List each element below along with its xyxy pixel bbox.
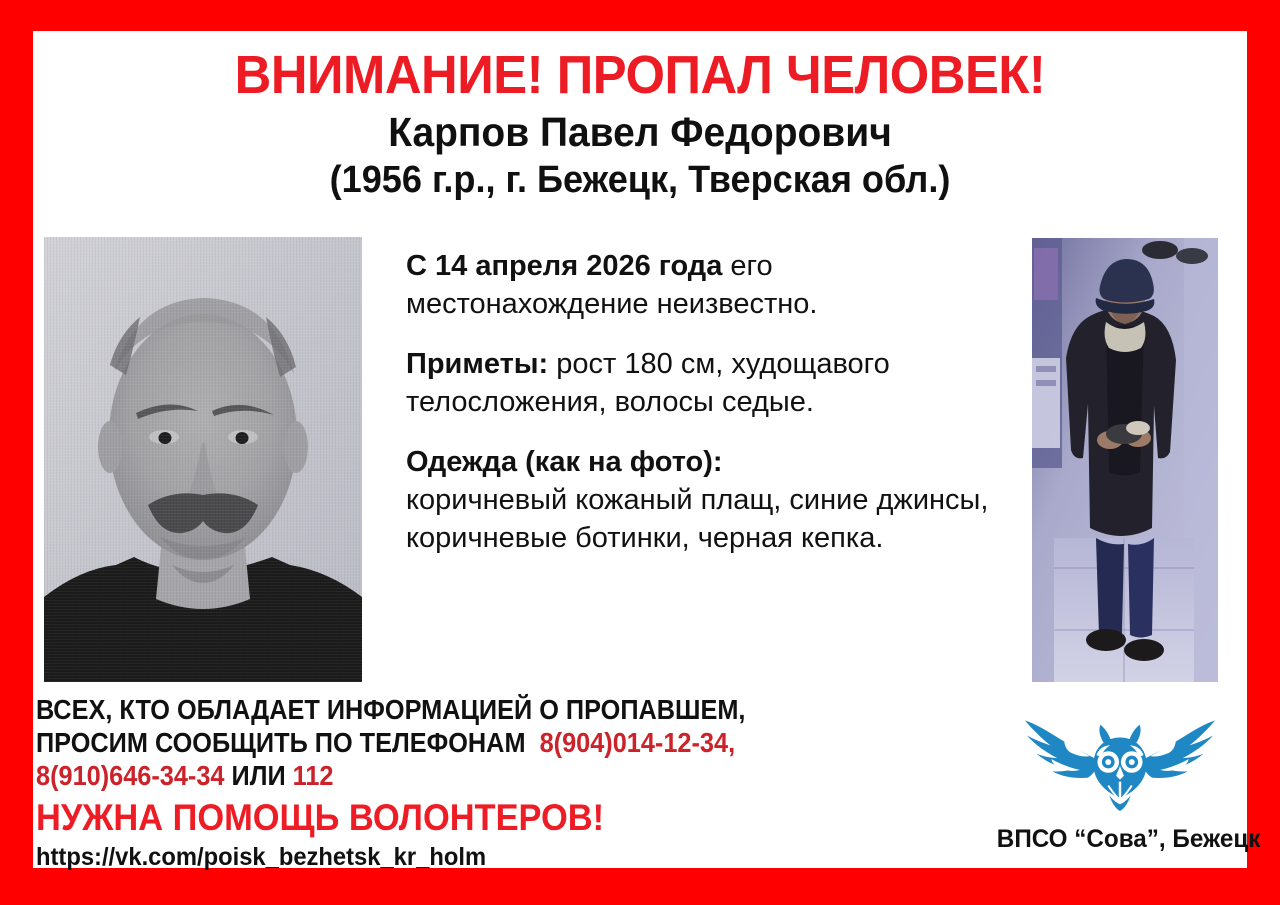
clothing-label: Одежда (как на фото): — [406, 446, 723, 478]
missing-person-poster: ВНИМАНИЕ! ПРОПАЛ ЧЕЛОВЕК! Карпов Павел Ф… — [0, 0, 1280, 905]
portrait-photo-image — [44, 237, 362, 682]
features-label: Приметы: — [406, 348, 548, 380]
features-paragraph: Приметы: рост 180 см, худощавого телосло… — [406, 345, 1006, 421]
missing-since-paragraph: С 14 апреля 2026 года его местонахождени… — [406, 247, 1006, 323]
person-origin: (1956 г.р., г. Бежецк, Тверская обл.) — [63, 157, 1216, 204]
poster-header: ВНИМАНИЕ! ПРОПАЛ ЧЕЛОВЕК! Карпов Павел Ф… — [33, 31, 1247, 204]
appeal-line-3: 8(910)646-34-34 ИЛИ 112 — [36, 759, 892, 792]
portrait-photo — [44, 237, 362, 682]
attention-headline: ВНИМАНИЕ! ПРОПАЛ ЧЕЛОВЕК! — [69, 31, 1210, 105]
appeal-line-2: ПРОСИМ СООБЩИТЬ ПО ТЕЛЕФОНАМ 8(904)014-1… — [36, 726, 892, 759]
organization-name: ВПСО “Сова”, Бежецк — [997, 812, 1243, 854]
appeal-call-prefix: ПРОСИМ СООБЩИТЬ ПО ТЕЛЕФОНАМ — [36, 727, 526, 758]
person-name: Карпов Павел Федорович — [63, 105, 1216, 157]
clothing-paragraph: Одежда (как на фото):коричневый кожаный … — [406, 443, 1006, 557]
organization-block: ВПСО “Сова”, Бежецк — [993, 714, 1247, 854]
phone-number-emergency[interactable]: 112 — [293, 760, 334, 791]
phone-number-1[interactable]: 8(904)014-12-34, — [540, 727, 736, 758]
surveillance-photo-image — [1032, 238, 1218, 682]
owl-logo-icon — [1015, 714, 1225, 812]
description-block: С 14 апреля 2026 года его местонахождени… — [406, 247, 1006, 557]
phone-number-2[interactable]: 8(910)646-34-34 — [36, 760, 224, 791]
appeal-line-1: ВСЕХ, КТО ОБЛАДАЕТ ИНФОРМАЦИЕЙ О ПРОПАВШ… — [36, 693, 892, 726]
poster-sheet: ВНИМАНИЕ! ПРОПАЛ ЧЕЛОВЕК! Карпов Павел Ф… — [33, 31, 1247, 868]
clothing-text: коричневый кожаный плащ, синие джинсы, к… — [406, 484, 988, 554]
volunteers-needed-headline: НУЖНА ПОМОЩЬ ВОЛОНТЕРОВ! — [36, 792, 901, 841]
surveillance-photo — [1032, 238, 1218, 682]
missing-since-label: С 14 апреля 2026 года — [406, 250, 722, 282]
appeal-block: ВСЕХ, КТО ОБЛАДАЕТ ИНФОРМАЦИЕЙ О ПРОПАВШ… — [36, 693, 966, 873]
or-word: ИЛИ — [232, 760, 286, 791]
vk-link[interactable]: https://vk.com/poisk_bezhetsk_kr_holm — [36, 841, 920, 873]
